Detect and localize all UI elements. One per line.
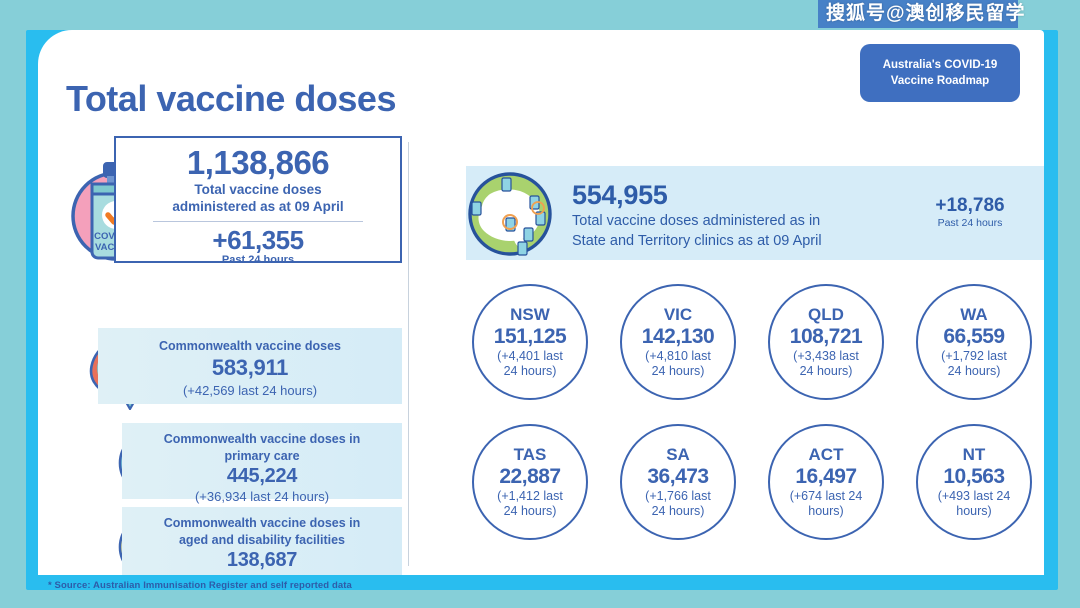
state-delta-sub: Past 24 hours [910,217,1030,229]
watermark-background [818,0,1018,28]
state-circle-nsw[interactable]: NSW 151,125 (+4,401 last 24 hours) [472,284,588,400]
source-note: * Source: Australian Immunisation Regist… [48,580,352,591]
aged-disability-value: 138,687 [122,549,402,571]
state-name: ACT [809,445,844,465]
aged-disability-label-line1: Commonwealth vaccine doses in [122,515,402,532]
primary-care-value: 445,224 [122,465,402,487]
state-name: SA [666,445,690,465]
state-delta-line2: 24 hours) [500,504,561,519]
state-value: 151,125 [494,325,566,349]
state-value: 36,473 [647,465,708,489]
total-doses-label-line1: Total vaccine doses [116,181,400,198]
state-delta-line1: (+1,412 last [493,489,567,504]
state-delta-line1: (+493 last 24 [934,489,1015,504]
state-name: TAS [514,445,547,465]
state-total-label-line2: State and Territory clinics as at 09 Apr… [572,231,822,251]
state-total-label-line1: Total vaccine doses administered as in [572,211,822,231]
australia-clinics-map-icon [464,170,556,258]
state-delta-line1: (+3,438 last [789,349,863,364]
state-name: WA [960,305,987,325]
state-total-value: 554,955 [572,179,822,211]
state-circle-vic[interactable]: VIC 142,130 (+4,810 last 24 hours) [620,284,736,400]
state-circle-act[interactable]: ACT 16,497 (+674 last 24 hours) [768,424,884,540]
state-summary-text: 554,955 Total vaccine doses administered… [572,179,822,251]
state-delta-line2: 24 hours) [796,364,857,379]
state-territory-grid: NSW 151,125 (+4,401 last 24 hours) VIC 1… [456,284,1044,564]
state-circle-sa[interactable]: SA 36,473 (+1,766 last 24 hours) [620,424,736,540]
state-delta-line2: 24 hours) [500,364,561,379]
infographic-card: Total vaccine doses Australia's COVID-19… [38,30,1044,575]
column-divider [408,142,409,566]
state-delta-line2: 24 hours) [648,364,709,379]
state-delta-line1: (+1,792 last [937,349,1011,364]
state-circle-qld[interactable]: QLD 108,721 (+3,438 last 24 hours) [768,284,884,400]
aged-disability-label-line2: aged and disability facilities [122,532,402,549]
state-circle-nt[interactable]: NT 10,563 (+493 last 24 hours) [916,424,1032,540]
state-delta-line2: hours) [952,504,995,519]
divider [153,221,363,222]
state-circle-tas[interactable]: TAS 22,887 (+1,412 last 24 hours) [472,424,588,540]
total-doses-label-line2: administered as at 09 April [116,198,400,215]
state-delta-line1: (+1,766 last [641,489,715,504]
state-name: VIC [664,305,692,325]
state-value: 66,559 [943,325,1004,349]
commonwealth-total-delta: (+42,569 last 24 hours) [98,381,402,400]
primary-care-label-line1: Commonwealth vaccine doses in [122,431,402,448]
total-doses-panel: 1,138,866 Total vaccine doses administer… [114,136,402,263]
commonwealth-total-panel: Commonwealth vaccine doses 583,911 (+42,… [98,328,402,404]
state-name: QLD [808,305,844,325]
state-delta-line1: (+4,810 last [641,349,715,364]
primary-care-label-line2: primary care [122,448,402,465]
state-territory-summary-panel: 554,955 Total vaccine doses administered… [466,166,1044,260]
aged-disability-delta: (+5,635 last 24 hours) [122,571,402,575]
primary-care-panel: Commonwealth vaccine doses in primary ca… [122,423,402,499]
state-value: 142,130 [642,325,714,349]
state-delta-line1: (+674 last 24 [786,489,867,504]
total-doses-value: 1,138,866 [116,145,400,181]
primary-care-delta: (+36,934 last 24 hours) [122,487,402,506]
total-doses-delta: +61,355 [116,226,400,254]
state-value: 108,721 [790,325,862,349]
state-delta-block: +18,786 Past 24 hours [910,194,1030,229]
roadmap-badge-line1: Australia's COVID-19 [883,57,998,73]
state-delta-value: +18,786 [910,194,1030,217]
state-name: NT [963,445,986,465]
page-title: Total vaccine doses [66,78,396,120]
state-delta-line1: (+4,401 last [493,349,567,364]
watermark: 搜狐号@澳创移民留学 [0,0,1080,30]
watermark-text: 搜狐号@澳创移民留学 [826,1,1076,27]
state-circle-wa[interactable]: WA 66,559 (+1,792 last 24 hours) [916,284,1032,400]
roadmap-badge: Australia's COVID-19 Vaccine Roadmap [860,44,1020,102]
state-delta-line2: 24 hours) [648,504,709,519]
state-value: 22,887 [499,465,560,489]
aged-disability-panel: Commonwealth vaccine doses in aged and d… [122,507,402,575]
state-delta-line2: hours) [804,504,847,519]
total-doses-delta-sub: Past 24 hours [116,254,400,266]
state-name: NSW [510,305,550,325]
state-value: 16,497 [795,465,856,489]
commonwealth-total-label: Commonwealth vaccine doses [98,338,402,355]
commonwealth-total-value: 583,911 [98,355,402,381]
state-value: 10,563 [943,465,1004,489]
state-delta-line2: 24 hours) [944,364,1005,379]
roadmap-badge-line2: Vaccine Roadmap [891,73,989,89]
